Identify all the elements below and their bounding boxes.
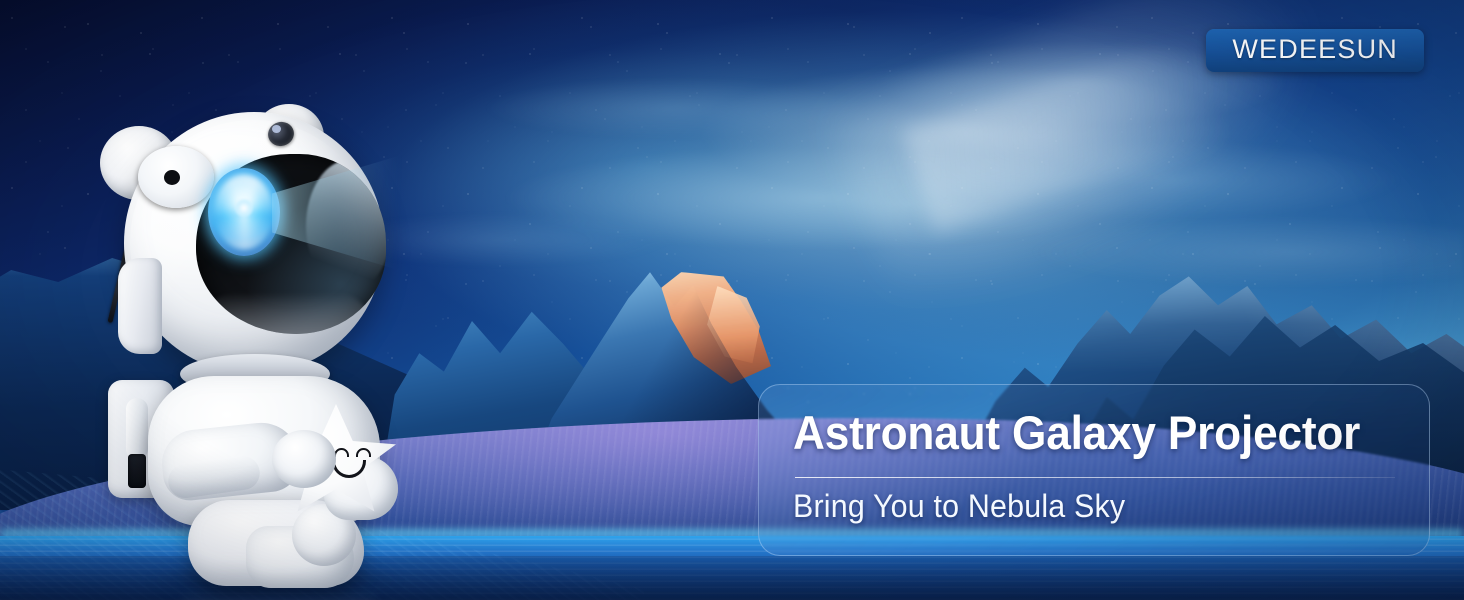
panel-divider: [795, 477, 1395, 478]
product-banner: WEDEESUN Astronaut Galaxy Projector Brin…: [0, 0, 1464, 600]
page-subtitle: Bring You to Nebula Sky: [793, 490, 1125, 522]
backpack-tank: [126, 398, 148, 460]
brand-name: WEDEESUN: [1232, 36, 1398, 63]
brand-badge: WEDEESUN: [1206, 29, 1424, 72]
pillow-eye-left: [334, 448, 349, 457]
projector-eye-pupil: [164, 170, 180, 185]
camera-lens-highlight: [272, 125, 281, 133]
suit-hand: [272, 430, 336, 488]
pillow-eye-right: [356, 448, 371, 457]
astronaut-projector-product: [96, 108, 426, 588]
page-title: Astronaut Galaxy Projector: [793, 409, 1360, 456]
usb-port-icon: [128, 454, 146, 488]
visor-highlight: [306, 160, 386, 292]
helmet-side-pod: [118, 258, 162, 354]
projector-lens: [208, 168, 280, 256]
visor-sheen: [206, 284, 366, 334]
headline-panel: Astronaut Galaxy Projector Bring You to …: [758, 384, 1430, 556]
